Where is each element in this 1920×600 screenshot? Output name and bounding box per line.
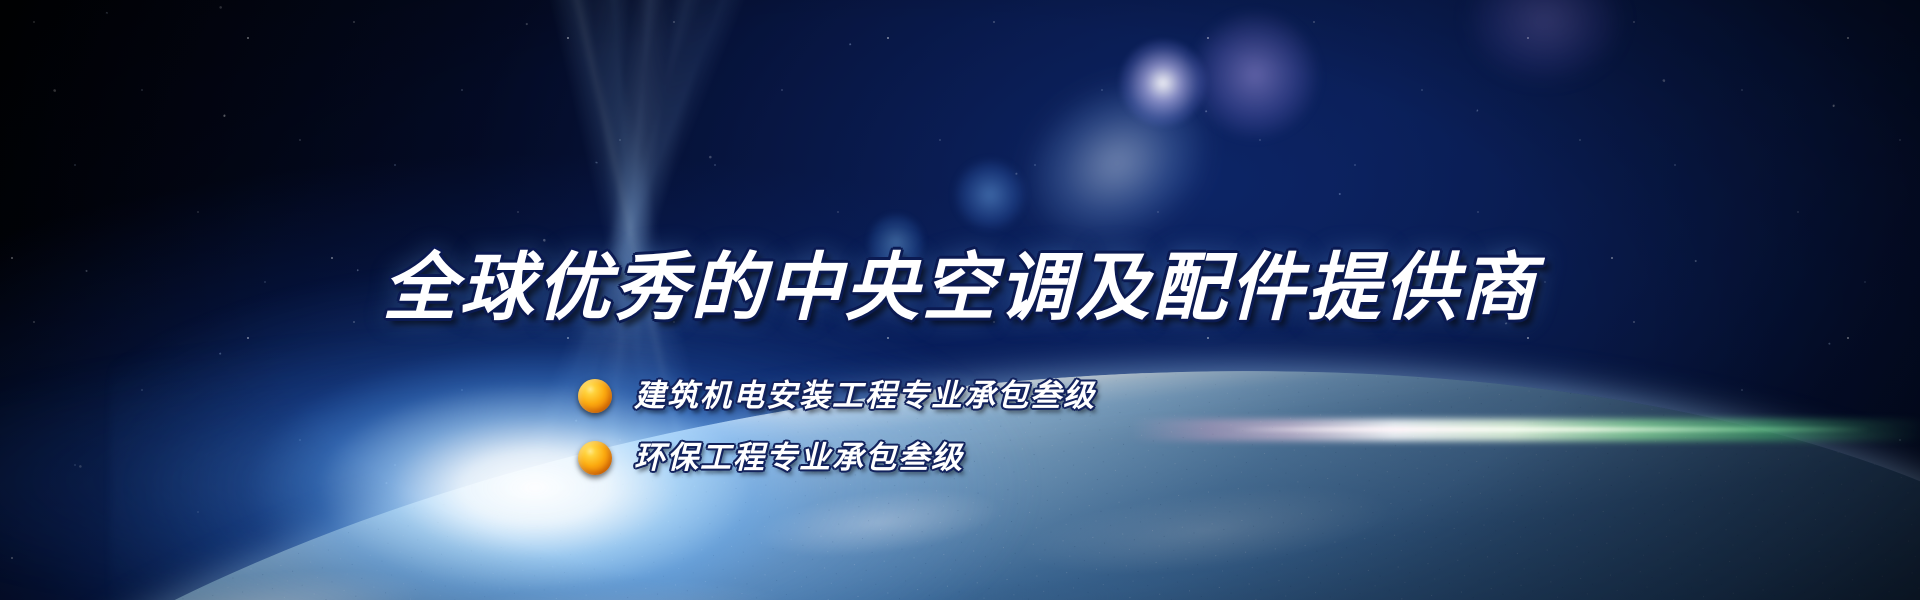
orange-sphere-bullet-icon (578, 441, 612, 475)
bullet-item-label: 建筑机电安装工程专业承包叁级 (634, 378, 1096, 414)
banner-bullet-list: 建筑机电安装工程专业承包叁级 环保工程专业承包叁级 (578, 378, 1096, 476)
orange-sphere-bullet-icon (578, 379, 612, 413)
banner-headline: 全球优秀的中央空调及配件提供商 (0, 248, 1920, 328)
bullet-item-qualification-1: 建筑机电安装工程专业承包叁级 (578, 378, 1096, 414)
bullet-item-label: 环保工程专业承包叁级 (634, 440, 964, 476)
bullet-item-qualification-2: 环保工程专业承包叁级 (578, 440, 1096, 476)
hero-banner: 全球优秀的中央空调及配件提供商 建筑机电安装工程专业承包叁级 环保工程专业承包叁… (0, 0, 1920, 600)
